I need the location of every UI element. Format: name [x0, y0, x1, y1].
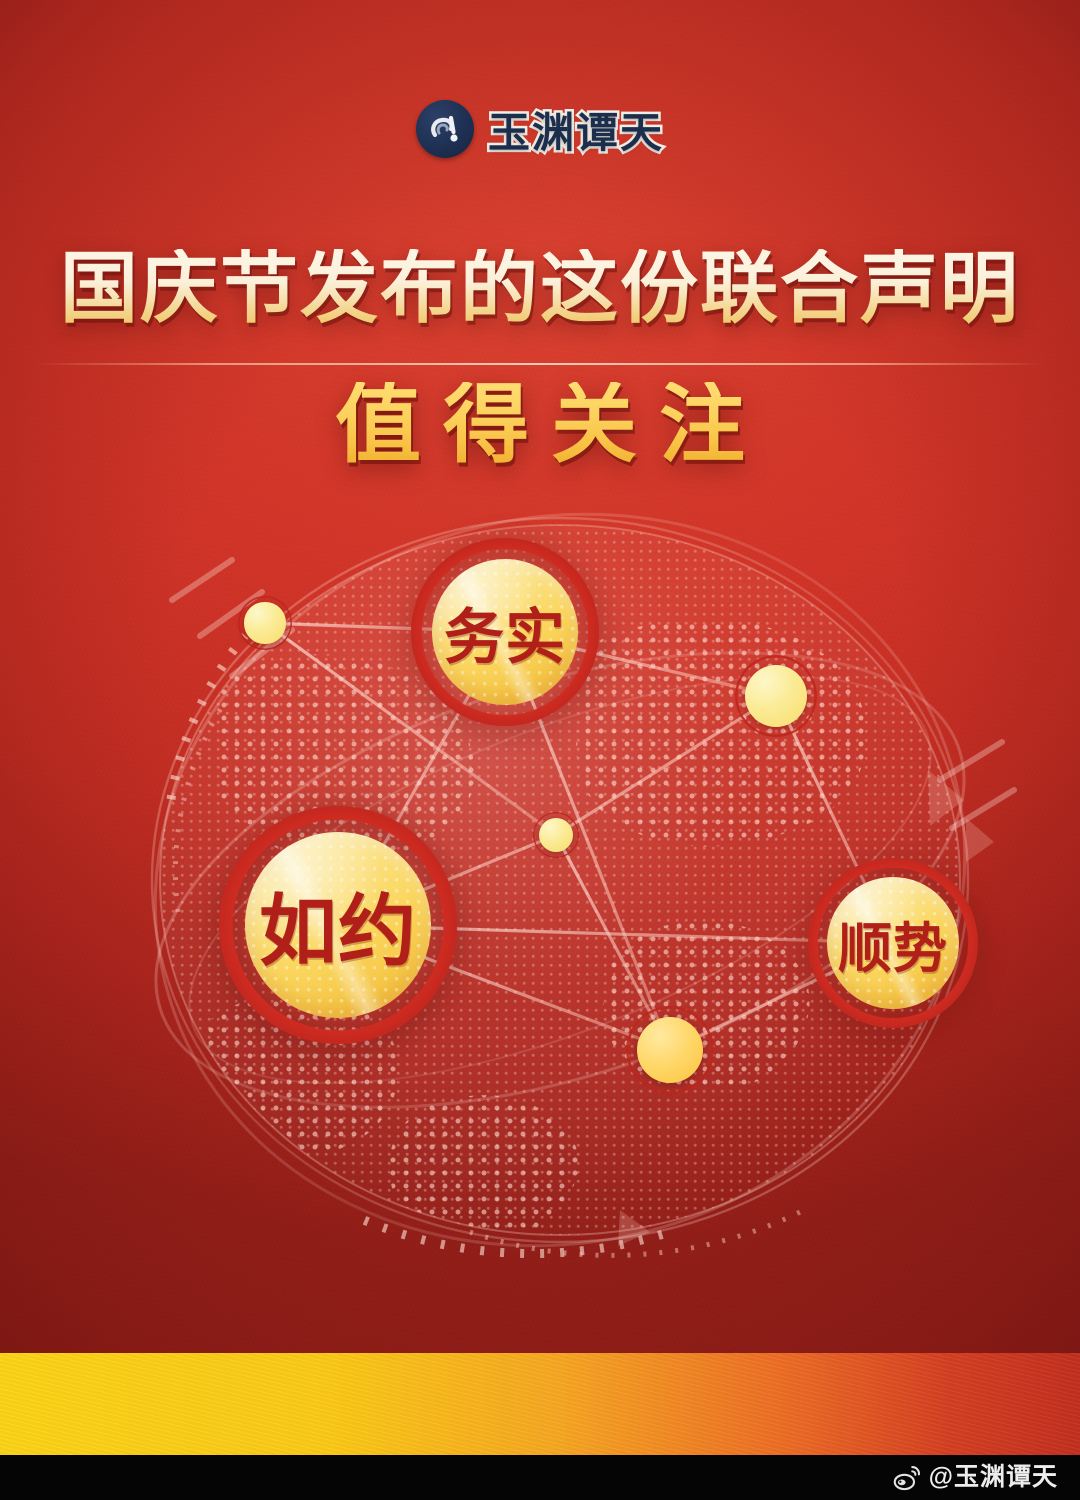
footer-bar: @玉渊谭天	[0, 1455, 1080, 1500]
bottom-gradient-band	[0, 1353, 1080, 1455]
weibo-icon	[893, 1464, 921, 1492]
bubble-label-shunshi: 顺势	[838, 904, 948, 983]
brand-logo: 玉渊谭天	[0, 92, 1080, 166]
bubble-label-wushi: 务实	[444, 589, 566, 676]
yuyuantantian-swirl-icon	[416, 100, 474, 158]
bubble-label-ruyue: 如约	[259, 869, 417, 981]
keyword-bubble-ruyue: 如约	[219, 806, 457, 1044]
network-node-a	[238, 596, 292, 650]
keyword-bubble-wushi: 务实	[411, 538, 599, 726]
headline-divider	[36, 363, 1044, 365]
globe-network-graphic	[0, 0, 1080, 1500]
poster-canvas: 务实 如约 顺势 玉渊谭天 国庆节发布的这份联合声明 值得关注	[0, 0, 1080, 1500]
keyword-bubble-shunshi: 顺势	[808, 858, 978, 1028]
network-node-c	[533, 812, 579, 858]
headline-line-1: 国庆节发布的这份联合声明	[0, 249, 1080, 327]
network-node-b	[735, 655, 817, 737]
brand-logo-text: 玉渊谭天	[488, 99, 664, 160]
network-node-d	[626, 1006, 714, 1094]
node-disc	[244, 602, 285, 643]
node-disc	[745, 665, 807, 727]
headline-line-2: 值得关注	[0, 382, 1080, 468]
weibo-handle: @玉渊谭天	[929, 1465, 1058, 1490]
